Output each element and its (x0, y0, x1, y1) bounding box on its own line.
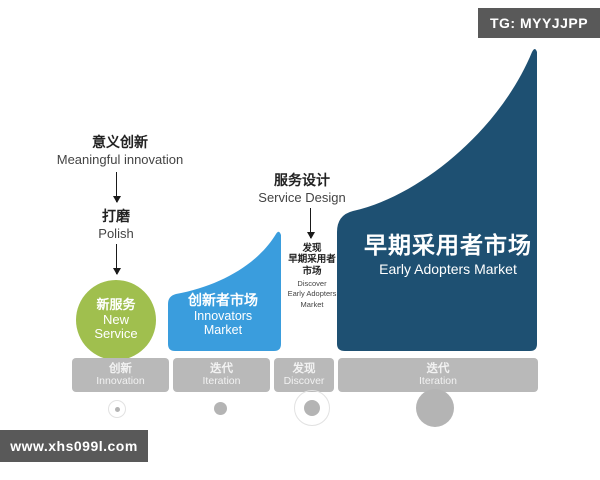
annotation-meaningful-innovation-en: Meaningful innovation (20, 152, 220, 168)
annotation-polish: 打磨 Polish (76, 208, 156, 242)
annotation-discover-en-1: Discover (284, 279, 340, 288)
phase-discover-cn: 发现 (293, 363, 316, 376)
new-service-label-en-1: New (103, 313, 129, 328)
scale-dot-1 (108, 400, 126, 418)
new-service-label-en-2: Service (94, 327, 137, 342)
annotation-service-design-en: Service Design (232, 190, 372, 206)
annotation-meaningful-innovation-cn: 意义创新 (20, 134, 220, 152)
phase-innovation-en: Innovation (96, 376, 144, 388)
annotation-polish-cn: 打磨 (76, 208, 156, 226)
phase-iteration-1-en: Iteration (203, 376, 241, 388)
phase-iteration-1-cn: 迭代 (210, 363, 233, 376)
annotation-service-design-cn: 服务设计 (232, 172, 372, 190)
annotation-discover-cn-3: 市场 (284, 266, 340, 277)
scale-dot-2-core (214, 402, 227, 415)
stage-new-service: 新服务 New Service (76, 280, 156, 360)
annotation-discover-en-3: Market (284, 300, 340, 309)
website-watermark: www.xhs099l.com (0, 430, 148, 462)
phase-discover[interactable]: 发现 Discover (274, 358, 334, 392)
stage-innovators-market: 创新者市场 Innovators Market (168, 292, 278, 338)
scale-dot-3 (294, 390, 330, 426)
new-service-label-cn: 新服务 (96, 298, 135, 313)
annotation-discover-cn-2: 早期采用者 (284, 254, 340, 265)
innovators-label-en-2: Market (168, 323, 278, 338)
stage-early-adopters-market: 早期采用者市场 Early Adopters Market (348, 232, 548, 278)
phase-iteration-2[interactable]: 迭代 Iteration (338, 358, 538, 392)
scale-dot-4 (416, 389, 454, 427)
arrow-down-icon (310, 208, 311, 238)
phase-bar-group: 创新 Innovation 迭代 Iteration 发现 Discover 迭… (72, 358, 538, 392)
early-adopters-label-cn: 早期采用者市场 (348, 232, 548, 259)
phase-iteration-1[interactable]: 迭代 Iteration (173, 358, 270, 392)
scale-dot-4-core (416, 389, 454, 427)
arrow-down-icon (116, 172, 117, 202)
phase-discover-en: Discover (284, 376, 325, 388)
annotation-discover-en-2: Early Adopters (284, 289, 340, 298)
telegram-watermark: TG: MYYJJPP (478, 8, 600, 38)
scale-dot-2 (210, 398, 230, 418)
scale-dot-3-core (304, 400, 320, 416)
innovators-label-en-1: Innovators (168, 309, 278, 324)
phase-innovation-cn: 创新 (109, 363, 132, 376)
phase-iteration-2-cn: 迭代 (427, 363, 450, 376)
annotation-meaningful-innovation: 意义创新 Meaningful innovation (20, 134, 220, 168)
phase-innovation[interactable]: 创新 Innovation (72, 358, 169, 392)
annotation-service-design: 服务设计 Service Design (232, 172, 372, 206)
scale-dot-1-core (115, 407, 120, 412)
diagram-canvas: 新服务 New Service 创新者市场 Innovators Market … (0, 0, 600, 480)
annotation-discover-cn-1: 发现 (284, 243, 340, 254)
annotation-polish-en: Polish (76, 226, 156, 242)
phase-iteration-2-en: Iteration (419, 376, 457, 388)
innovators-label-cn: 创新者市场 (168, 292, 278, 309)
arrow-down-icon (116, 244, 117, 274)
early-adopters-label-en: Early Adopters Market (348, 261, 548, 278)
annotation-discover-early-adopters: 发现 早期采用者 市场 Discover Early Adopters Mark… (284, 243, 340, 309)
